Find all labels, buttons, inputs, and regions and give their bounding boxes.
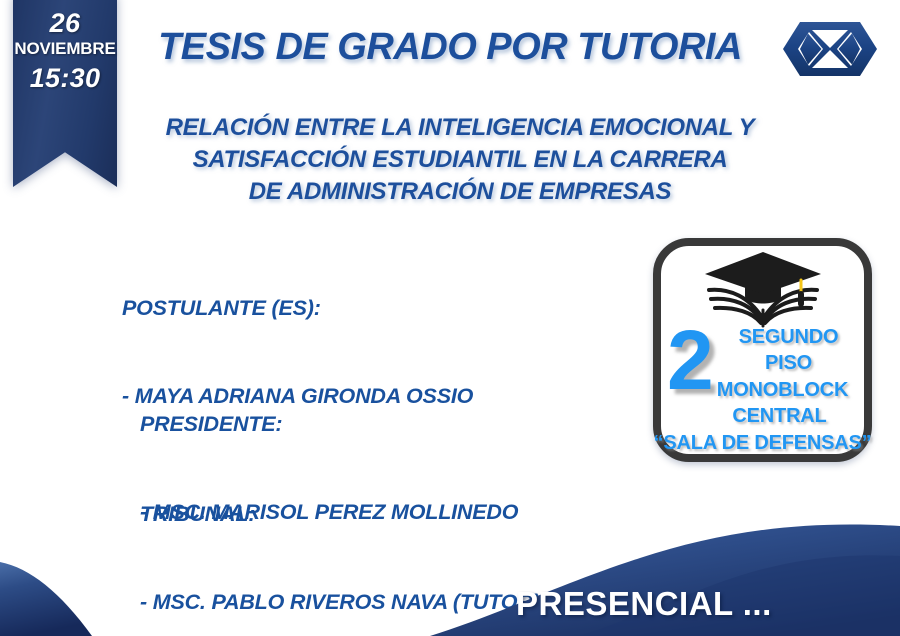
badge-line-4: CENTRAL — [649, 403, 876, 429]
badge-line-1: SEGUNDO — [649, 324, 876, 350]
page-title: TESIS DE GRADO POR TUTORIA — [120, 26, 780, 69]
badge-line-3: MONOBLOCK — [649, 377, 876, 403]
subtitle-line-2: SATISFACCIÓN ESTUDIANTIL EN LA CARRERA — [120, 144, 800, 176]
ribbon-day: 26 — [50, 10, 81, 38]
location-badge: 2 SEGUNDO PISO MONOBLOCK CENTRAL “SALA D… — [653, 238, 872, 462]
modality-label: PRESENCIAL ... — [516, 585, 772, 623]
badge-line-5: “SALA DE DEFENSAS” — [649, 430, 876, 456]
date-ribbon: 26 NOVIEMBRE 15:30 — [13, 0, 117, 187]
presidente-heading: PRESIDENTE: — [140, 410, 518, 439]
postulante-heading: POSTULANTE (ES): — [122, 294, 473, 323]
subtitle-line-1: RELACIÓN ENTRE LA INTELIGENCIA EMOCIONAL… — [120, 112, 800, 144]
ribbon-month: NOVIEMBRE — [14, 38, 115, 61]
page-subtitle: RELACIÓN ENTRE LA INTELIGENCIA EMOCIONAL… — [120, 112, 800, 208]
thesis-defense-poster: 26 NOVIEMBRE 15:30 TESIS DE GRADO POR TU — [0, 0, 900, 636]
ribbon-time: 15:30 — [30, 60, 101, 96]
ribbon-text-group: 26 NOVIEMBRE 15:30 — [13, 0, 117, 187]
badge-line-2: PISO — [649, 350, 876, 376]
subtitle-line-3: DE ADMINISTRACIÓN DE EMPRESAS — [120, 176, 800, 208]
badge-location-lines: SEGUNDO PISO MONOBLOCK CENTRAL “SALA DE … — [649, 324, 876, 456]
university-hexagon-logo — [782, 18, 878, 80]
graduation-cap-book-icon — [701, 250, 825, 328]
